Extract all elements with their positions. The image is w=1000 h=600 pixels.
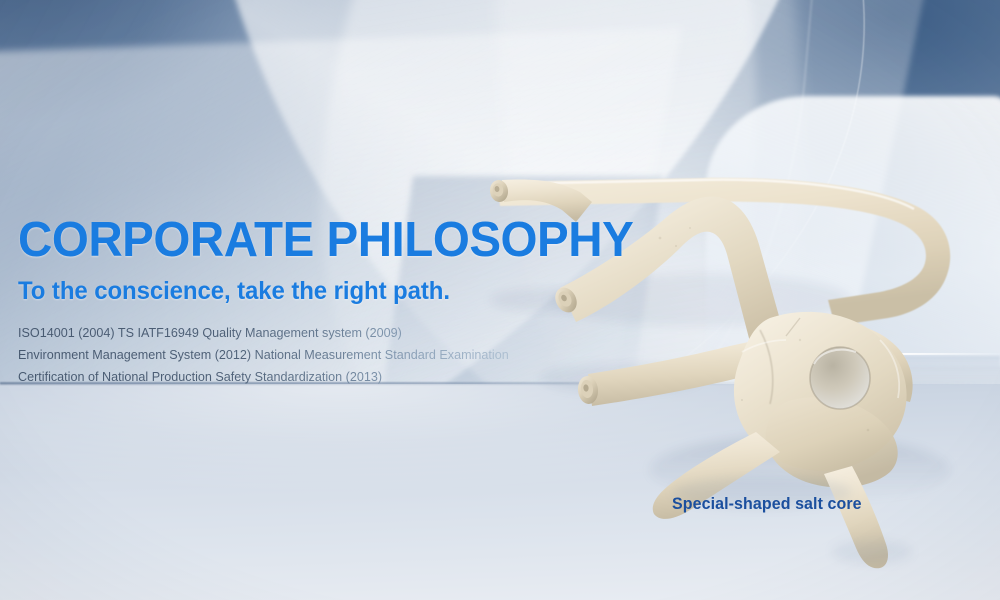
certification-line: Certification of National Production Saf… (18, 366, 618, 388)
page-title: CORPORATE PHILOSOPHY (18, 216, 619, 265)
corporate-philosophy-banner: CORPORATE PHILOSOPHY To the conscience, … (0, 0, 1000, 600)
surface-seam-right-shadow (700, 356, 1000, 382)
decorative-white-block (706, 96, 1000, 366)
certification-list: ISO14001 (2004) TS IATF16949 Quality Man… (18, 322, 618, 388)
certification-line: ISO14001 (2004) TS IATF16949 Quality Man… (18, 322, 618, 344)
surface-seam-right (690, 353, 1000, 355)
page-subtitle: To the conscience, take the right path. (18, 278, 613, 304)
certification-line: Environment Management System (2012) Nat… (18, 344, 618, 366)
headline-block: CORPORATE PHILOSOPHY To the conscience, … (18, 216, 638, 388)
product-caption: Special-shaped salt core (672, 494, 862, 514)
surface-glow (0, 384, 1000, 494)
